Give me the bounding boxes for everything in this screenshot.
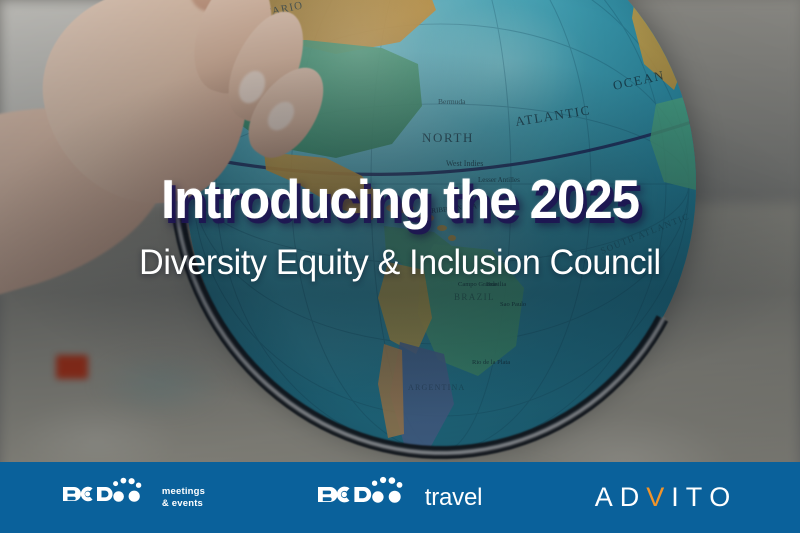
bcd-logo-mark — [61, 475, 153, 520]
advito-wordmark: A D V I T O — [595, 482, 738, 513]
logo-bcd-travel[interactable]: travel — [266, 462, 532, 533]
banner-text-block: Introducing the 2025 Diversity Equity & … — [0, 168, 800, 284]
bcd-travel-logo-mark — [316, 474, 416, 521]
partner-logo-bar: meetings & events — [0, 462, 800, 533]
bcd-travel-wordmark: travel — [425, 484, 483, 512]
logo-bcd-meetings-events[interactable]: meetings & events — [0, 462, 266, 533]
bcd-tagline: meetings & events — [162, 486, 205, 510]
advito-letter-a: A — [595, 482, 620, 513]
advito-letter-o: O — [709, 482, 737, 513]
banner-subheadline: Diversity Equity & Inclusion Council — [12, 242, 788, 284]
advito-letter-i: I — [671, 482, 686, 513]
bcd-tagline-line-1: meetings — [162, 486, 205, 498]
bcd-tagline-line-2: & events — [162, 498, 205, 510]
logo-advito[interactable]: A D V I T O — [532, 462, 800, 533]
advito-letter-d: D — [620, 482, 647, 513]
bcd-paw-icon — [61, 475, 153, 515]
bcd-paw-icon — [316, 474, 416, 516]
advito-letter-t: T — [686, 482, 710, 513]
promo-banner: ONTARIO QUEBEC NORTH ATLANTIC OCEAN Berm… — [0, 0, 800, 533]
advito-letter-v-accent: V — [646, 482, 671, 513]
banner-headline: Introducing the 2025 — [28, 168, 772, 230]
